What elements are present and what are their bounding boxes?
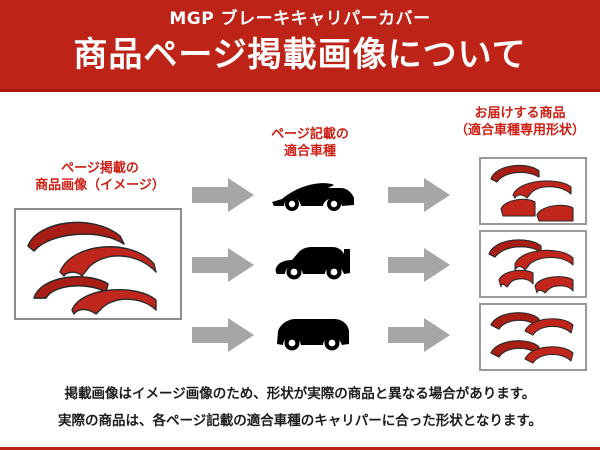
column-label-delivered-product: お届けする商品 （適合車種専用形状） [440, 105, 600, 139]
column-label-right-line1: お届けする商品 [440, 105, 600, 122]
column-label-compatible-vehicle: ページ記載の 適合車種 [240, 126, 380, 160]
arrow-right-icon [388, 318, 450, 352]
column-label-left-line2: 商品画像（イメージ） [10, 177, 190, 194]
suv-icon [268, 243, 356, 283]
caliper-cover-shape [60, 247, 156, 276]
delivered-product-box-suv [479, 230, 587, 298]
caliper-cover-group-van [481, 305, 585, 369]
header-subtitle: MGP ブレーキキャリパーカバー [0, 8, 600, 30]
page-title: 商品ページ掲載画像について [0, 33, 600, 77]
note-line-2: 実際の商品は、各ページ記載の適合車種のキャリパーに合った形状となります。 [0, 412, 600, 430]
caliper-cover-group-generic [16, 210, 180, 318]
caliper-cover-shape [535, 277, 573, 293]
caliper-cover-group-suv [481, 232, 585, 296]
van-icon [268, 313, 356, 353]
caliper-cover-shape [72, 290, 156, 314]
caliper-cover-shape [501, 199, 535, 216]
caliper-cover-shape [537, 205, 573, 221]
caliper-cover-shape [499, 270, 533, 287]
note-line-1: 掲載画像はイメージ画像のため、形状が実際の商品と異なる場合があります。 [0, 385, 600, 403]
arrow-right-icon [192, 318, 254, 352]
arrow-right-icon [388, 178, 450, 212]
caliper-cover-shape [515, 250, 573, 270]
column-label-middle-line2: 適合車種 [240, 143, 380, 160]
arrow-right-icon [192, 178, 254, 212]
arrow-right-icon [192, 248, 254, 282]
caliper-cover-group-sports [481, 159, 585, 223]
arrow-right-icon [388, 248, 450, 282]
caliper-cover-edge [491, 165, 539, 182]
column-label-left-line1: ページ掲載の [10, 160, 190, 177]
delivered-product-box-van [479, 303, 587, 371]
column-label-page-product-image: ページ掲載の 商品画像（イメージ） [10, 160, 190, 194]
page-product-image-box [14, 208, 182, 320]
column-label-middle-line1: ページ記載の [240, 126, 380, 143]
sports-car-icon [268, 175, 356, 215]
delivered-product-box-sports [479, 157, 587, 225]
header-banner: MGP ブレーキキャリパーカバー 商品ページ掲載画像について [0, 0, 600, 92]
product-page-image-notice: MGP ブレーキキャリパーカバー 商品ページ掲載画像について ページ掲載の 商品… [0, 0, 600, 450]
caliper-cover-shape [513, 181, 571, 198]
column-label-right-line2: （適合車種専用形状） [440, 122, 600, 139]
